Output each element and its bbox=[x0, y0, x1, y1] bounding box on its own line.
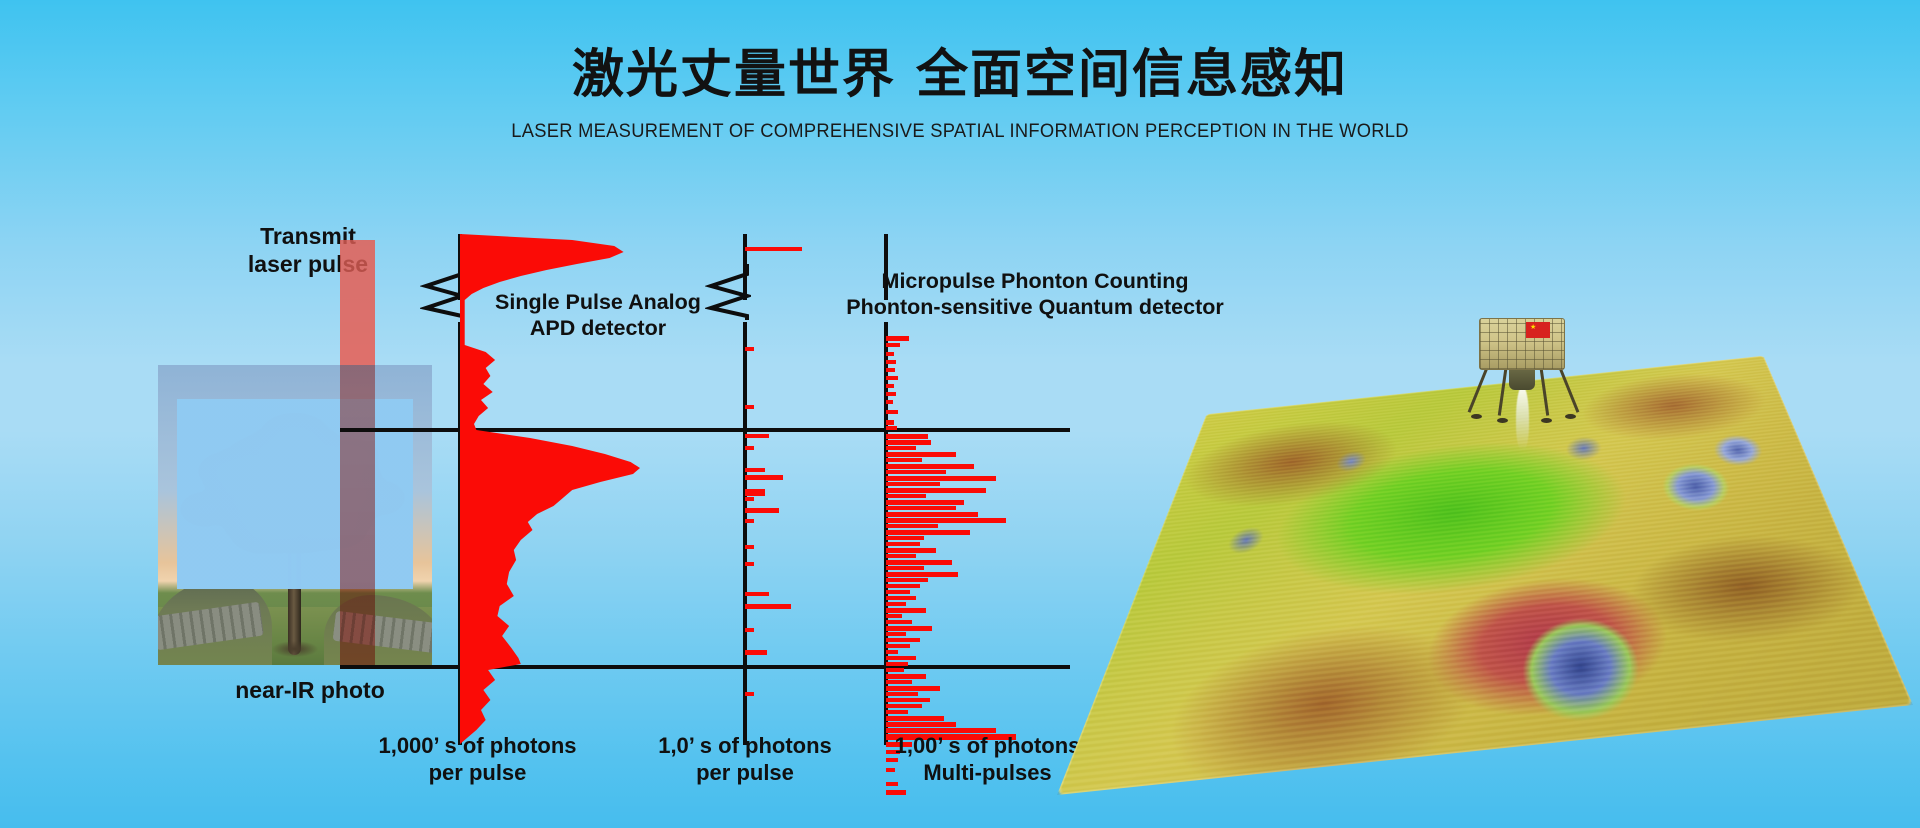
photon-count-spike bbox=[886, 698, 930, 702]
photon-count-spike bbox=[886, 722, 956, 727]
photon-count-spike bbox=[886, 488, 986, 493]
caption-panel-1-line2: per pulse bbox=[370, 760, 585, 787]
photon-count-spike bbox=[745, 434, 769, 438]
photon-count-spike bbox=[745, 468, 765, 472]
ground-reference-line bbox=[340, 665, 1070, 669]
photon-count-spike bbox=[886, 656, 916, 660]
photon-count-spike bbox=[886, 638, 920, 642]
photon-count-spike bbox=[886, 578, 928, 582]
photon-count-spike bbox=[886, 343, 900, 347]
lander-panel-grid bbox=[1480, 319, 1564, 369]
photon-count-spike bbox=[886, 482, 940, 486]
photon-count-spike bbox=[886, 668, 904, 672]
lunar-terrain-scene: ★ bbox=[1205, 330, 1905, 750]
photon-count-spike bbox=[886, 572, 958, 577]
photon-count-spike bbox=[886, 602, 906, 606]
photon-count-spike bbox=[886, 584, 920, 588]
photon-count-spike bbox=[886, 524, 938, 528]
photon-count-spike bbox=[745, 692, 754, 696]
photon-count-spike bbox=[745, 405, 754, 409]
photon-count-spike bbox=[745, 497, 754, 501]
photon-count-spike bbox=[886, 368, 895, 372]
caption-panel-3: 1,00’ s of photons Multi-pulses bbox=[885, 733, 1090, 787]
photon-count-spike bbox=[886, 710, 908, 714]
detector-2-label: Micropulse Phonton Counting Phonton-sens… bbox=[830, 268, 1240, 320]
photon-count-spike bbox=[886, 674, 926, 679]
photon-count-spike bbox=[886, 452, 956, 457]
photon-count-spike bbox=[886, 494, 926, 498]
photon-count-spike bbox=[886, 686, 940, 691]
photon-count-spike bbox=[886, 506, 956, 510]
photon-count-spike bbox=[745, 604, 791, 609]
photon-count-spike bbox=[745, 489, 765, 496]
lander-pad-2 bbox=[1497, 418, 1508, 423]
caption-panel-2-line2: per pulse bbox=[645, 760, 845, 787]
photon-count-spike bbox=[886, 392, 896, 396]
photon-count-spike bbox=[886, 626, 932, 631]
photon-count-spike bbox=[886, 790, 906, 795]
photon-count-spike bbox=[886, 644, 910, 648]
photon-count-spike bbox=[745, 247, 802, 251]
photon-count-spike bbox=[886, 614, 902, 618]
photon-count-spike bbox=[886, 440, 931, 445]
caption-panel-1: 1,000’ s of photons per pulse bbox=[370, 733, 585, 787]
photon-count-spike bbox=[886, 560, 952, 565]
photon-count-spike bbox=[886, 650, 898, 654]
lander-pad-3 bbox=[1541, 418, 1552, 423]
canopy-top-reference-line bbox=[340, 428, 1070, 432]
photon-count-spike bbox=[886, 360, 896, 364]
photon-count-spike bbox=[886, 542, 920, 546]
photon-count-spike bbox=[745, 475, 783, 480]
photon-count-spike bbox=[886, 476, 996, 481]
photon-count-spike bbox=[886, 470, 946, 474]
axis-vertical-lower bbox=[743, 322, 747, 745]
detector-1-label: Single Pulse Analog APD detector bbox=[478, 289, 718, 341]
banner-canvas: 激光丈量世界 全面空间信息感知 LASER MEASUREMENT OF COM… bbox=[0, 0, 1920, 828]
photon-count-spike bbox=[886, 518, 1006, 523]
photon-count-spike bbox=[745, 628, 754, 632]
photon-count-spike bbox=[886, 434, 928, 439]
photon-count-spike bbox=[886, 446, 916, 450]
photon-count-spike bbox=[886, 512, 978, 517]
lander-leg-3 bbox=[1539, 364, 1549, 416]
photon-count-spike bbox=[886, 426, 897, 430]
lander-leg-2 bbox=[1498, 364, 1508, 416]
photon-count-spike bbox=[886, 400, 893, 404]
caption-panel-3-line1: 1,00’ s of photons bbox=[885, 733, 1090, 760]
photon-count-spike bbox=[886, 566, 924, 570]
photon-count-spike bbox=[886, 410, 898, 414]
caption-panel-2-line1: 1,0’ s of photons bbox=[645, 733, 845, 760]
lunar-lander: ★ bbox=[1467, 318, 1579, 434]
lander-engine-plume bbox=[1516, 386, 1529, 450]
photon-count-spike bbox=[886, 608, 926, 613]
caption-panel-3-line2: Multi-pulses bbox=[885, 760, 1090, 787]
photon-count-spike bbox=[886, 458, 922, 462]
lander-leg-1 bbox=[1468, 363, 1490, 412]
photon-count-spike bbox=[745, 562, 754, 566]
lander-pad-1 bbox=[1471, 414, 1482, 419]
photon-count-spike bbox=[886, 384, 894, 388]
photon-count-spike bbox=[886, 662, 908, 666]
photon-count-spike bbox=[886, 680, 912, 684]
photon-count-spike bbox=[886, 704, 922, 708]
caption-panel-2: 1,0’ s of photons per pulse bbox=[645, 733, 845, 787]
photon-count-spike bbox=[886, 376, 898, 380]
photon-count-spike bbox=[886, 620, 912, 624]
photon-count-spike bbox=[745, 592, 769, 596]
photon-count-spike bbox=[745, 508, 779, 513]
photon-count-spike bbox=[886, 554, 916, 558]
photon-count-spike bbox=[886, 692, 918, 696]
photon-count-spike bbox=[886, 420, 894, 425]
lander-leg-4 bbox=[1557, 363, 1579, 412]
lander-pad-4 bbox=[1565, 414, 1576, 419]
photon-count-spike bbox=[886, 336, 909, 341]
photon-count-spike bbox=[886, 590, 910, 594]
lander-body: ★ bbox=[1479, 318, 1565, 370]
lander-engine bbox=[1509, 368, 1535, 390]
photon-count-spike bbox=[886, 548, 936, 553]
photon-count-spike bbox=[886, 500, 964, 505]
photon-count-spike bbox=[745, 347, 754, 351]
photon-count-spike bbox=[886, 632, 906, 636]
photon-count-spike bbox=[745, 519, 754, 523]
photon-count-spike bbox=[745, 446, 754, 450]
photon-count-spike bbox=[886, 352, 894, 356]
photon-count-spike bbox=[886, 716, 944, 721]
photon-count-spike bbox=[745, 650, 767, 655]
china-flag-icon: ★ bbox=[1526, 322, 1550, 338]
waveform-plot-group: Single Pulse Analog APD detector Micropu… bbox=[0, 0, 1100, 828]
caption-panel-1-line1: 1,000’ s of photons bbox=[370, 733, 585, 760]
photon-count-spike bbox=[886, 596, 916, 600]
photon-count-spike bbox=[745, 545, 754, 549]
photon-count-spike bbox=[886, 464, 974, 469]
photon-count-spike bbox=[886, 530, 970, 535]
photon-count-spike bbox=[886, 536, 924, 540]
